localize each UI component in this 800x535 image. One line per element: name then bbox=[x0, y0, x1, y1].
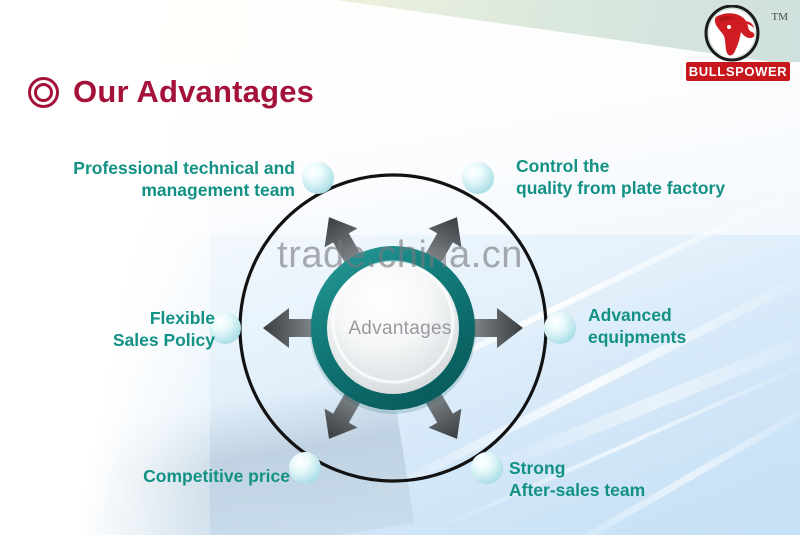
background-left-panel bbox=[0, 55, 210, 535]
label-advanced-equipments: Advanced equipments bbox=[588, 305, 788, 349]
label-professional-team: Professional technical and management te… bbox=[10, 158, 295, 202]
slide-canvas: TM BULLSPOWER Our Advantages bbox=[0, 0, 800, 535]
center-label: Advantages bbox=[330, 318, 470, 340]
watermark-text: trade.china.cn bbox=[0, 234, 800, 277]
label-quality-control: Control the quality from plate factory bbox=[516, 156, 796, 200]
double-circle-icon bbox=[28, 77, 59, 108]
label-flexible-sales: Flexible Sales Policy bbox=[50, 308, 215, 352]
page-title-text: Our Advantages bbox=[73, 74, 314, 110]
label-competitive-price: Competitive price bbox=[40, 466, 290, 488]
bull-head-icon bbox=[702, 5, 762, 63]
page-title: Our Advantages bbox=[28, 74, 314, 110]
brand-logo: TM BULLSPOWER bbox=[684, 5, 792, 83]
trademark-label: TM bbox=[772, 11, 789, 23]
label-after-sales-team: Strong After-sales team bbox=[509, 458, 769, 502]
logo-wordmark: BULLSPOWER bbox=[686, 62, 790, 81]
